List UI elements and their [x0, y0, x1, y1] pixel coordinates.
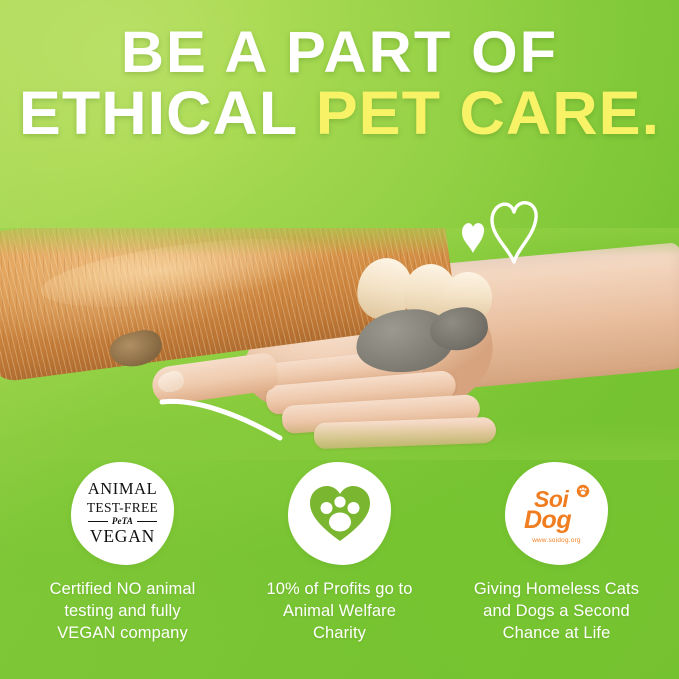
swoosh-doodle [156, 388, 292, 444]
headline-line-2: ETHICAL PET CARE. [0, 85, 679, 141]
headline-line-1: BE A PART OF [0, 26, 679, 79]
heart-doodle-large [492, 203, 536, 262]
paw-toe-pad [584, 488, 586, 490]
badge-caption: Certified NO animal testing and fully VE… [50, 579, 196, 644]
dog-word: Dog [524, 506, 571, 534]
heart-paw-badge [288, 462, 391, 565]
headline-line-2-white: ETHICAL [19, 79, 316, 147]
paw-toe-pad [579, 488, 581, 490]
soi-dog-wordmark-icon: Soi Dog [518, 483, 596, 535]
peta-logo-text: ANIMAL TEST-FREE PeTA VEGAN [77, 481, 169, 546]
heart-paw-icon [308, 484, 372, 544]
paw-in-hand-photo [0, 228, 679, 460]
ethical-pet-care-banner: BE A PART OF ETHICAL PET CARE. [0, 0, 679, 679]
heart-doodle-small [462, 223, 484, 253]
headline: BE A PART OF ETHICAL PET CARE. [0, 26, 679, 141]
peta-line-animal: ANIMAL [77, 481, 169, 498]
peta-line-vegan: VEGAN [77, 528, 169, 546]
paw-toe-pad [320, 502, 332, 514]
badges-row: ANIMAL TEST-FREE PeTA VEGAN Certified NO… [0, 462, 679, 644]
peta-line-test-free: TEST-FREE [77, 501, 169, 515]
paw-toe-pad [581, 488, 583, 490]
badge-animal-welfare: 10% of Profits go to Animal Welfare Char… [235, 462, 445, 644]
headline-line-2-yellow: PET CARE. [316, 79, 660, 147]
paw-toe-pad [334, 496, 345, 507]
badge-caption: 10% of Profits go to Animal Welfare Char… [267, 579, 413, 644]
badge-peta-vegan: ANIMAL TEST-FREE PeTA VEGAN Certified NO… [18, 462, 228, 644]
peta-animal-test-free-vegan-logo: ANIMAL TEST-FREE PeTA VEGAN [71, 462, 174, 565]
badge-soi-dog: Soi Dog www.soidog.org Giving Homeless C… [452, 462, 662, 644]
soi-dog-foundation-logo: Soi Dog www.soidog.org [505, 462, 608, 565]
peta-wordmark: PeTA [112, 517, 133, 526]
human-finger [314, 417, 497, 449]
paw-toe-pad [347, 502, 359, 514]
heart-doodle-group [452, 192, 548, 268]
peta-middle-row: PeTA [77, 517, 169, 526]
peta-rule-right [137, 521, 157, 522]
paw-main-pad [580, 491, 585, 495]
badge-caption: Giving Homeless Cats and Dogs a Second C… [474, 579, 639, 644]
paw-main-pad [329, 512, 351, 531]
peta-rule-left [88, 521, 108, 522]
soi-dog-mark-group: Soi Dog www.soidog.org [514, 483, 600, 544]
soi-dog-url: www.soidog.org [514, 537, 600, 544]
